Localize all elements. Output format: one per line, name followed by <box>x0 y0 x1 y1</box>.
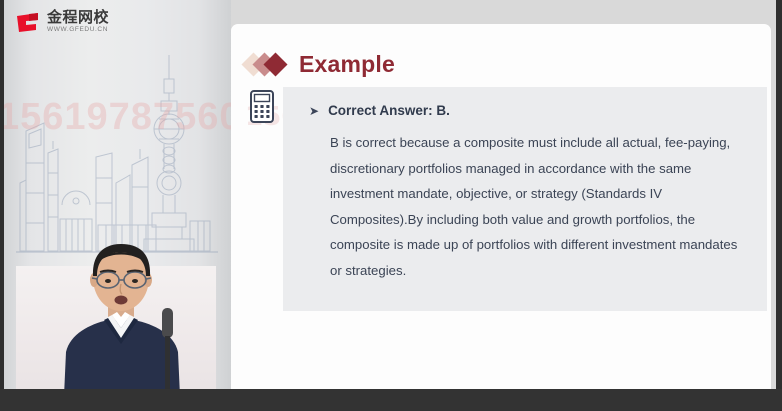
brand-logo: 金程网校 WWW.GFEDU.CN <box>16 10 109 34</box>
slide-title: Example <box>299 51 395 78</box>
presenter-figure <box>4 236 231 396</box>
left-bezel <box>0 0 4 411</box>
slide-title-row: Example <box>245 51 395 78</box>
explanation-line: Composites).By including both value and … <box>330 207 753 233</box>
explanation-line: investment mandate, objective, or strate… <box>330 181 753 207</box>
right-bezel <box>776 0 782 411</box>
correct-answer-line: ➤ Correct Answer: B. <box>309 101 753 121</box>
explanation-line: discretionary portfolios managed in acco… <box>330 156 753 182</box>
logo-title: 金程网校 <box>47 10 109 25</box>
calculator-icon <box>250 90 274 123</box>
explanation-paragraph: B is correct because a composite must in… <box>330 130 753 283</box>
slide-card: Example 15619787560 ➤ <box>231 24 771 389</box>
explanation-line: or strategies. <box>330 258 753 284</box>
explanation-line: composite is made up of portfolios with … <box>330 232 753 258</box>
correct-answer-heading: Correct Answer: B. <box>328 101 450 121</box>
logo-url: WWW.GFEDU.CN <box>47 27 109 34</box>
gfedu-flag-logo-icon <box>16 10 42 34</box>
lecture-video-panel[interactable]: 15619787560 <box>4 0 231 396</box>
player-screen: 15619787560 <box>0 0 782 411</box>
three-diamonds-icon <box>245 52 289 78</box>
arrow-bullet-icon: ➤ <box>309 101 319 121</box>
explanation-line: B is correct because a composite must in… <box>330 130 753 156</box>
player-bottom-bar[interactable] <box>0 389 782 411</box>
content-box: ➤ Correct Answer: B. B is correct becaus… <box>283 87 767 311</box>
